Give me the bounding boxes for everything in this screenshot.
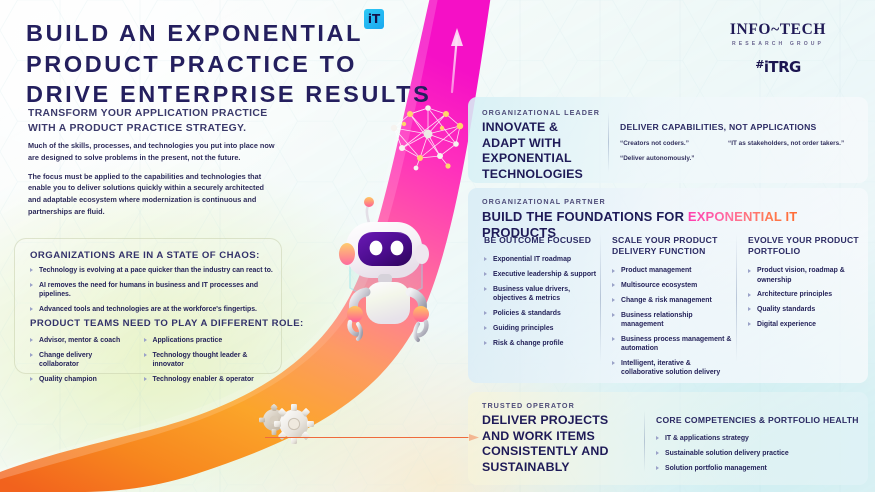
robot-mascot xyxy=(330,196,442,356)
intro-heading: TRANSFORM YOUR APPLICATION PRACTICE WITH… xyxy=(28,106,278,136)
list-item: Exponential IT roadmap xyxy=(484,255,596,264)
list-item: Technology enabler & operator xyxy=(144,375,281,384)
upward-arrow xyxy=(451,28,463,92)
roles-column-2: Applications practice Technology thought… xyxy=(144,336,281,390)
list-item: Quality champion xyxy=(30,375,134,384)
column-list: Exponential IT roadmap Executive leaders… xyxy=(484,255,596,348)
list-item: Architecture principles xyxy=(748,290,860,299)
operator-subheading: CORE COMPETENCIES & PORTFOLIO HEALTH xyxy=(656,415,866,426)
list-item: Business relationship management xyxy=(612,311,732,330)
leader-right-block: DELIVER CAPABILITIES, NOT APPLICATIONS “… xyxy=(620,122,860,162)
roles-column-1: Advisor, mentor & coach Change delivery … xyxy=(30,336,134,390)
list-item: Multisource ecosystem xyxy=(612,281,732,290)
list-item: Advisor, mentor & coach xyxy=(30,336,134,345)
leader-subheading: DELIVER CAPABILITIES, NOT APPLICATIONS xyxy=(620,122,860,133)
list-item: Advanced tools and technologies are at t… xyxy=(30,305,280,314)
operator-eyebrow: TRUSTED OPERATOR xyxy=(482,401,632,410)
leader-eyebrow: ORGANIZATIONAL LEADER xyxy=(482,108,602,117)
title-line-2: PRODUCT PRACTICE TO xyxy=(26,51,357,77)
it-badge: iT xyxy=(364,9,384,29)
leader-heading: INNOVATE & ADAPT WITH EXPONENTIAL TECHNO… xyxy=(482,120,602,183)
title-line-3: DRIVE ENTERPRISE RESULTS xyxy=(26,81,431,107)
list-item: Change delivery collaborator xyxy=(30,351,134,370)
chaos-title: ORGANIZATIONS ARE IN A STATE OF CHAOS: xyxy=(30,250,260,261)
list-item: Solution portfolio management xyxy=(656,464,866,473)
page-title: BUILD AN EXPONENTIALiT PRODUCT PRACTICE … xyxy=(26,18,446,110)
operator-divider xyxy=(644,410,645,472)
column-title: BE OUTCOME FOCUSED xyxy=(484,235,596,246)
itrg-text: iTRG xyxy=(764,58,801,76)
list-item: Applications practice xyxy=(144,336,281,345)
leader-divider xyxy=(608,112,609,172)
list-item: Intelligent, iterative & collaborative s… xyxy=(612,359,732,378)
intro-paragraph-1: Much of the skills, processes, and techn… xyxy=(28,140,276,164)
list-item: Guiding principles xyxy=(484,324,596,333)
column-title: SCALE YOUR PRODUCT DELIVERY FUNCTION xyxy=(612,235,732,257)
column-list: Product management Multisource ecosystem… xyxy=(612,266,732,377)
list-item: Product vision, roadmap & ownership xyxy=(748,266,860,285)
list-item: Risk & change profile xyxy=(484,339,596,348)
logo-tagline: RESEARCH GROUP xyxy=(703,41,853,47)
list-item: Product management xyxy=(612,266,732,275)
operator-right-block: CORE COMPETENCIES & PORTFOLIO HEALTH IT … xyxy=(656,415,866,479)
partner-column-2: SCALE YOUR PRODUCT DELIVERY FUNCTION Pro… xyxy=(612,235,732,383)
leader-left-block: ORGANIZATIONAL LEADER INNOVATE & ADAPT W… xyxy=(482,108,602,183)
partner-heading-pre: BUILD THE FOUNDATIONS FOR xyxy=(482,209,688,224)
list-item: Technology is evolving at a pace quicker… xyxy=(30,266,280,275)
partner-divider-2 xyxy=(736,234,737,362)
leader-quote-2: “IT as stakeholders, not order takers.” xyxy=(728,140,844,147)
intro-body: Much of the skills, processes, and techn… xyxy=(28,140,276,218)
list-item: Quality standards xyxy=(748,305,860,314)
leader-quote-3: “Deliver autonomously.” xyxy=(620,155,860,162)
infographic-poster: BUILD AN EXPONENTIALiT PRODUCT PRACTICE … xyxy=(0,0,875,492)
list-item: Policies & standards xyxy=(484,309,596,318)
partner-heading-accent: EXPONENTIAL IT xyxy=(688,209,797,224)
partner-column-1: BE OUTCOME FOCUSED Exponential IT roadma… xyxy=(484,235,596,353)
list-item: Change & risk management xyxy=(612,296,732,305)
leader-quote-1: “Creators not coders.” xyxy=(620,140,710,147)
chaos-list: Technology is evolving at a pace quicker… xyxy=(30,266,280,320)
roles-title: PRODUCT TEAMS NEED TO PLAY A DIFFERENT R… xyxy=(30,318,304,329)
hash-symbol: # xyxy=(755,58,764,71)
partner-eyebrow: ORGANIZATIONAL PARTNER xyxy=(482,197,862,206)
list-item: IT & applications strategy xyxy=(656,434,866,443)
list-item: AI removes the need for humans in busine… xyxy=(30,281,280,300)
logo-wordmark: INFO~TECH xyxy=(703,22,853,38)
intro-paragraph-2: The focus must be applied to the capabil… xyxy=(28,171,276,218)
list-item: Business process management & automation xyxy=(612,335,732,354)
list-item: Digital experience xyxy=(748,320,860,329)
leader-quote-row: “Creators not coders.” “IT as stakeholde… xyxy=(620,140,860,147)
title-line-1: BUILD AN EXPONENTIAL xyxy=(26,20,363,46)
pointer-arrow xyxy=(265,433,480,442)
brand-logo: INFO~TECH RESEARCH GROUP #iTRG xyxy=(703,22,853,76)
column-title: EVOLVE YOUR PRODUCT PORTFOLIO xyxy=(748,235,860,257)
operator-left-block: TRUSTED OPERATOR DELIVER PROJECTS AND WO… xyxy=(482,401,632,476)
operator-list: IT & applications strategy Sustainable s… xyxy=(656,434,866,473)
operator-heading: DELIVER PROJECTS AND WORK ITEMS CONSISTE… xyxy=(482,413,632,476)
list-item: Executive leadership & support xyxy=(484,270,596,279)
column-list: Product vision, roadmap & ownership Arch… xyxy=(748,266,860,329)
list-item: Technology thought leader & innovator xyxy=(144,351,281,370)
partner-divider-1 xyxy=(600,234,601,362)
list-item: Business value drivers, objectives & met… xyxy=(484,285,596,304)
roles-columns: Advisor, mentor & coach Change delivery … xyxy=(30,336,280,390)
list-item: Sustainable solution delivery practice xyxy=(656,449,866,458)
partner-column-3: EVOLVE YOUR PRODUCT PORTFOLIO Product vi… xyxy=(748,235,860,335)
itrg-hashtag-logo: #iTRG xyxy=(703,58,853,76)
